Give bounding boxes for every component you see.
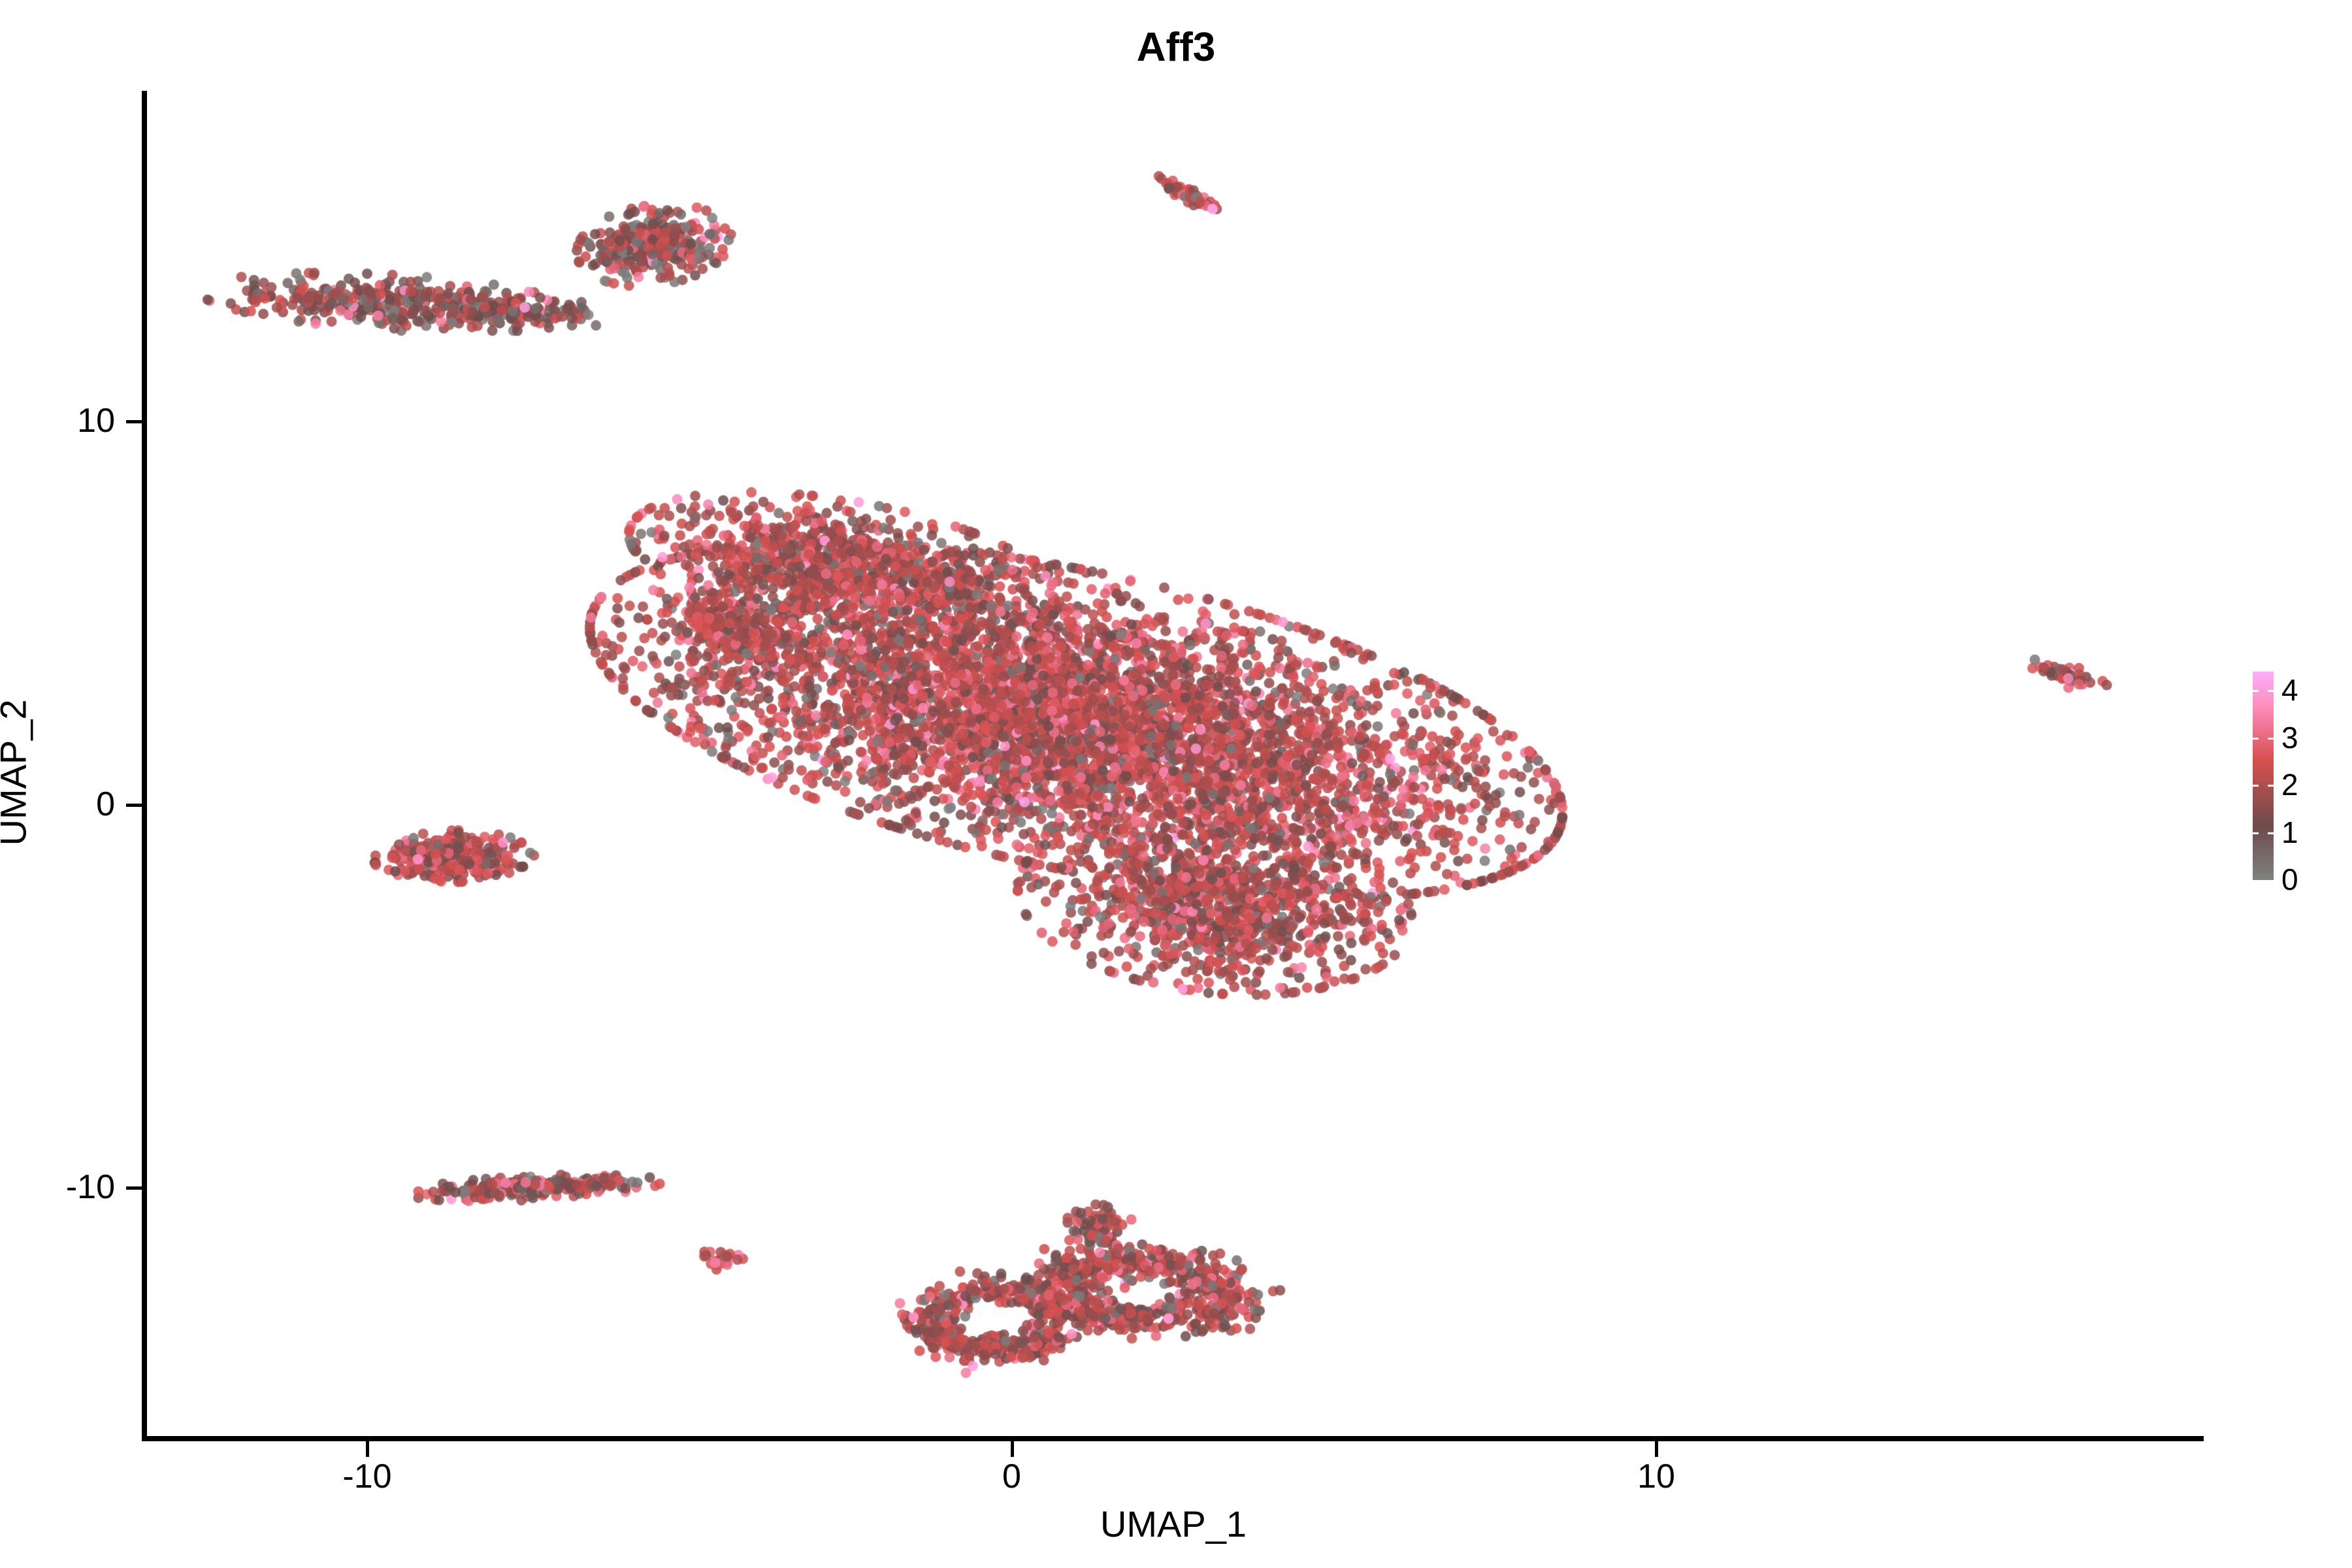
y-axis-title: UMAP_2 xyxy=(0,87,35,1459)
plot-panel xyxy=(144,91,2203,1439)
x-tick-label: 10 xyxy=(1571,1458,1741,1495)
scatter-points-layer xyxy=(144,91,2203,1439)
y-tick-mark xyxy=(126,804,142,807)
colorbar-tick-mark xyxy=(2268,832,2274,834)
colorbar-tick-label: 2 xyxy=(2281,770,2298,800)
x-tick-label: -10 xyxy=(282,1458,452,1495)
colorbar-tick-label: 4 xyxy=(2281,675,2298,705)
x-axis-line xyxy=(144,1436,2204,1441)
x-tick-mark xyxy=(366,1441,369,1457)
colorbar-tick-mark xyxy=(2268,738,2274,740)
colorbar-tick-label: 3 xyxy=(2281,723,2298,753)
umap-feature-plot: Aff3 -10010 -10010 UMAP_1 UMAP_2 01234 xyxy=(0,0,2352,1568)
colorbar-tick-mark xyxy=(2253,785,2259,787)
colorbar-tick-mark xyxy=(2253,738,2259,740)
colorbar-tick-label: 0 xyxy=(2281,864,2298,894)
page-title: Aff3 xyxy=(0,27,2352,68)
colorbar-gradient xyxy=(2253,672,2274,880)
x-tick-mark xyxy=(1011,1441,1014,1457)
colorbar-tick-mark xyxy=(2253,832,2259,834)
colorbar-tick-label: 1 xyxy=(2281,817,2298,847)
x-tick-mark xyxy=(1655,1441,1658,1457)
y-tick-mark xyxy=(126,1186,142,1190)
colorbar-tick-mark xyxy=(2268,690,2274,692)
colorbar-tick-mark xyxy=(2253,690,2259,692)
legend-colorbar: 01234 xyxy=(2253,672,2344,887)
y-axis-line xyxy=(142,91,147,1441)
y-tick-mark xyxy=(126,420,142,423)
x-axis-title: UMAP_1 xyxy=(144,1503,2203,1545)
x-tick-label: 0 xyxy=(927,1458,1097,1495)
colorbar-tick-mark xyxy=(2268,785,2274,787)
